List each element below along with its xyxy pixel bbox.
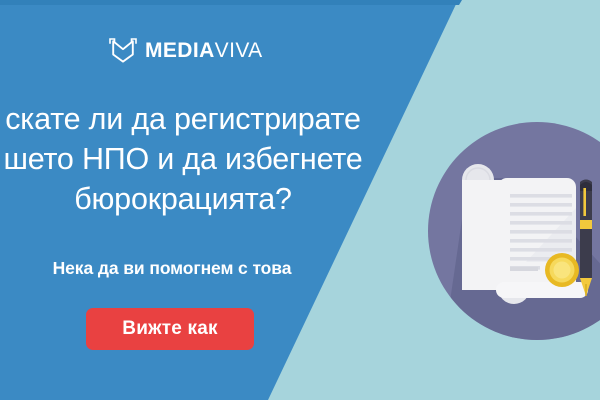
headline: скате ли да регистрирате шето НПО и да и… bbox=[0, 100, 384, 220]
fountain-pen bbox=[580, 180, 592, 297]
subtitle: Нека да ви помогнем с това bbox=[0, 258, 344, 279]
document-scroll-illustration bbox=[400, 90, 600, 360]
headline-line-1: скате ли да регистрирате bbox=[0, 100, 384, 140]
see-how-button[interactable]: Вижте как bbox=[86, 308, 254, 350]
brand-logo-text: MEDIAVIVA bbox=[145, 40, 263, 61]
open-book-icon bbox=[108, 36, 138, 64]
brand-name-primary: MEDIA bbox=[145, 39, 215, 62]
brand-name-secondary: VIVA bbox=[215, 39, 263, 62]
signature-line bbox=[510, 267, 538, 271]
promo-banner: MEDIAVIVA скате ли да регистрирате шето … bbox=[0, 0, 600, 400]
headline-line-3: бюрокрацията? bbox=[0, 180, 384, 220]
brand-logo[interactable]: MEDIAVIVA bbox=[108, 36, 263, 64]
gold-wax-seal bbox=[545, 253, 579, 287]
headline-line-2: шето НПО и да избегнете bbox=[0, 140, 384, 180]
